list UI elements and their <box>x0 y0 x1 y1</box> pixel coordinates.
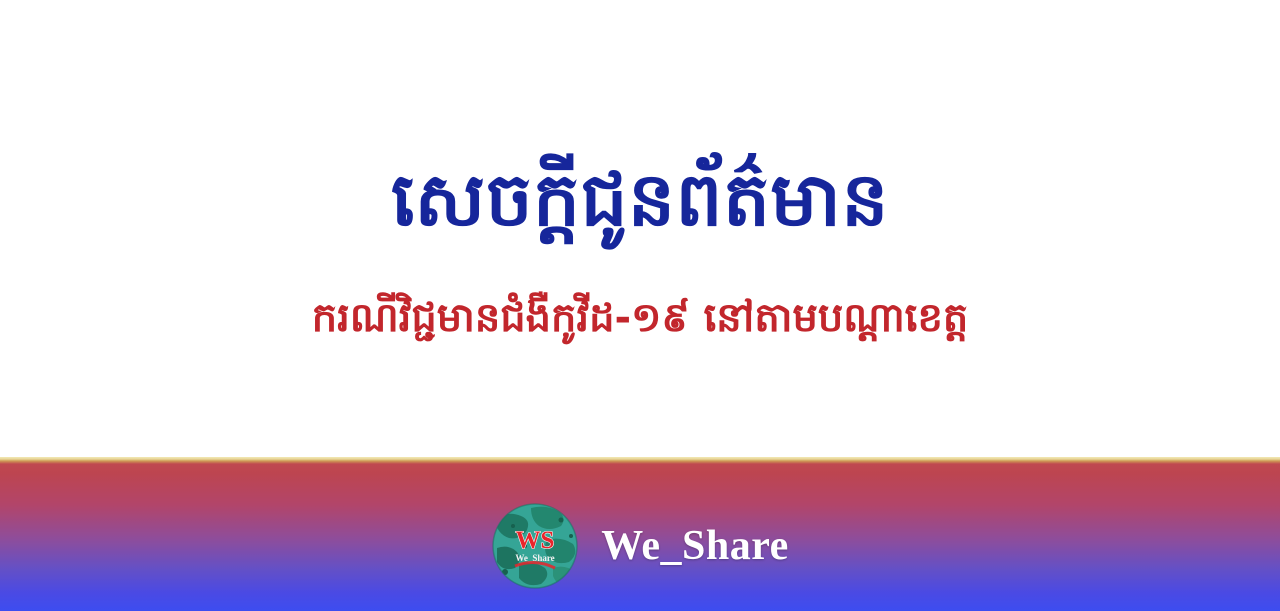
footer-band: WS We_Share We_Share <box>0 457 1280 611</box>
globe-logo-svg: WS We_Share <box>491 502 579 590</box>
page-subtitle: ករណីវិជ្ជមានជំងឺកូវីដ-១៩ នៅតាមបណ្តាខេត្ត <box>0 297 1280 339</box>
content-area: សេចក្តីជូនព័ត៌មាន ករណីវិជ្ជមានជំងឺកូវីដ-… <box>0 0 1280 457</box>
page-title: សេចក្តីជូនព័ត៌មាន <box>0 163 1280 237</box>
svg-text:WS: WS <box>516 527 555 554</box>
banner-canvas: សេចក្តីជូនព័ត៌មាន ករណីវិជ្ជមានជំងឺកូវីដ-… <box>0 0 1280 611</box>
footer-content: WS We_Share We_Share <box>0 457 1280 611</box>
globe-logo-icon: WS We_Share <box>491 502 579 590</box>
brand-name: We_Share <box>601 525 789 567</box>
